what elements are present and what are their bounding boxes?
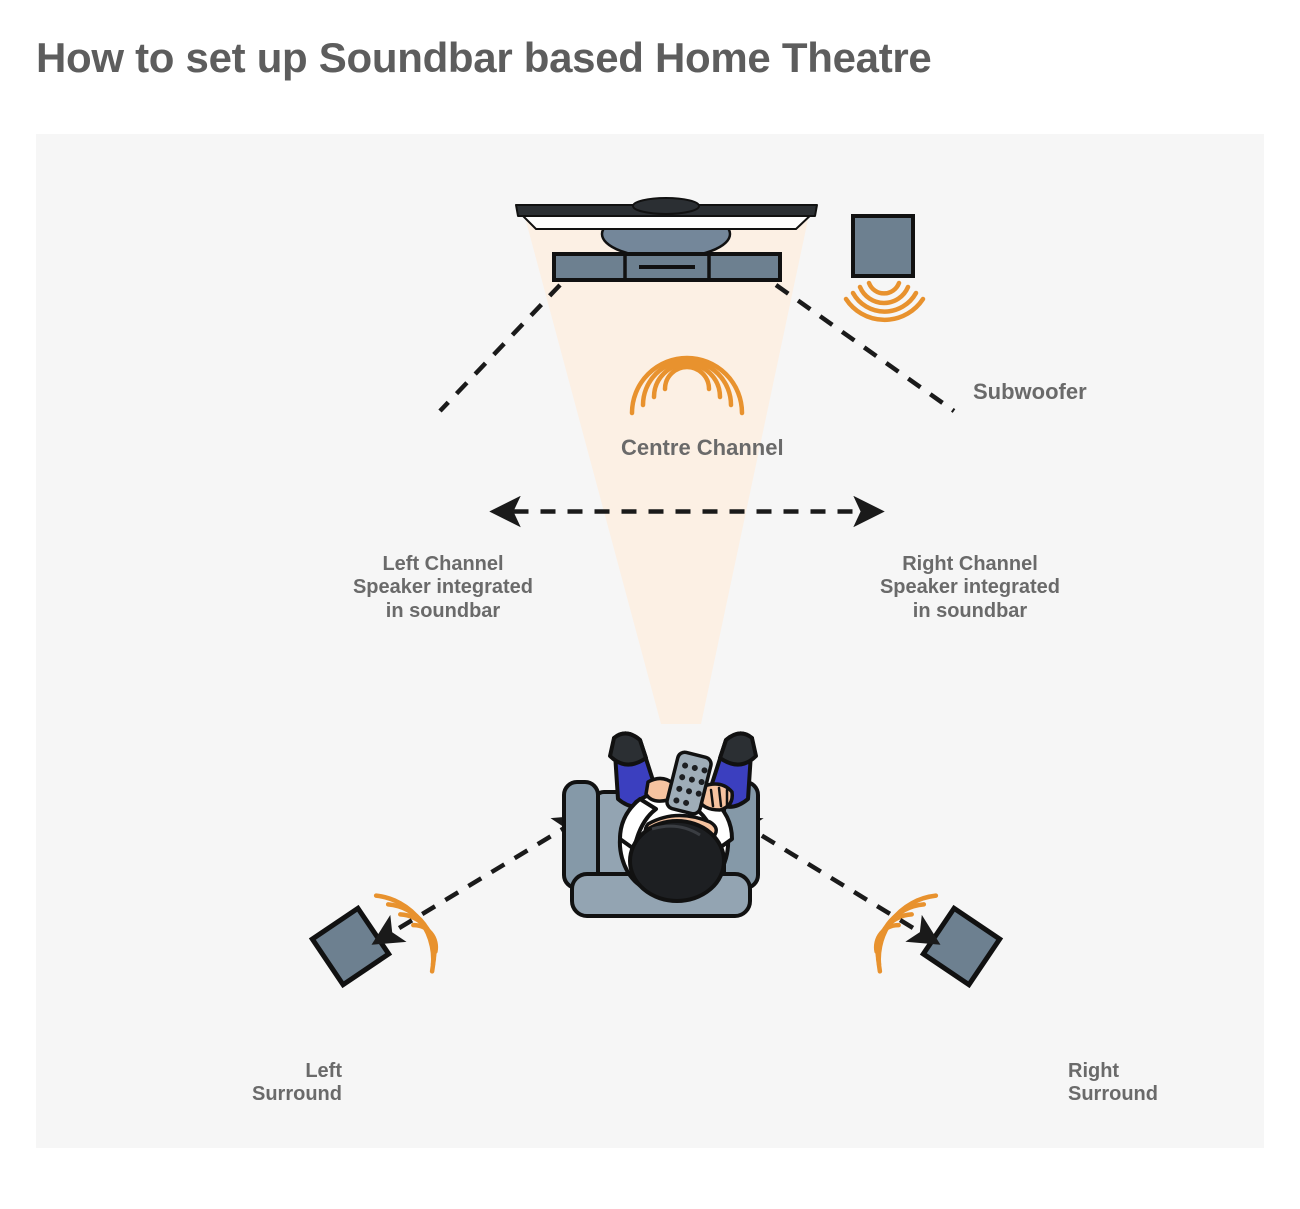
- left-surround-arrow: [376, 818, 581, 942]
- right-surround-sound-waves: [874, 885, 936, 980]
- subwoofer: [846, 216, 923, 320]
- left-channel-leader-line: [440, 285, 560, 411]
- label-left-surround: Left Surround: [226, 1060, 342, 1107]
- left-surround-body: [312, 908, 388, 984]
- soundbar: [554, 254, 780, 280]
- viewer-shoe-left: [610, 733, 646, 764]
- label-left-channel: Left Channel Speaker integrated in sound…: [329, 553, 557, 623]
- subwoofer-body: [853, 216, 913, 276]
- label-subwoofer: Subwoofer: [973, 379, 1087, 405]
- diagram-panel: Subwoofer Centre Channel Left Channel Sp…: [36, 134, 1264, 1148]
- label-right-channel: Right Channel Speaker integrated in soun…: [854, 553, 1086, 623]
- home-theatre-diagram: [36, 134, 1264, 1148]
- label-right-surround: Right Surround: [1068, 1060, 1196, 1107]
- subwoofer-sound-waves: [846, 283, 923, 320]
- viewer-shoe-right: [720, 733, 756, 764]
- viewer-on-sofa: [564, 733, 758, 916]
- right-surround-arrow: [733, 818, 936, 942]
- left-surround-sound-waves: [376, 885, 438, 980]
- left-surround-speaker: [312, 885, 438, 984]
- right-surround-body: [923, 908, 999, 984]
- right-surround-speaker: [874, 885, 1000, 984]
- page-title: How to set up Soundbar based Home Theatr…: [36, 34, 931, 82]
- viewer-head-hair: [630, 821, 724, 901]
- projection-cone: [523, 210, 810, 724]
- label-centre-channel: Centre Channel: [621, 435, 784, 461]
- tv-back-bump: [633, 198, 699, 214]
